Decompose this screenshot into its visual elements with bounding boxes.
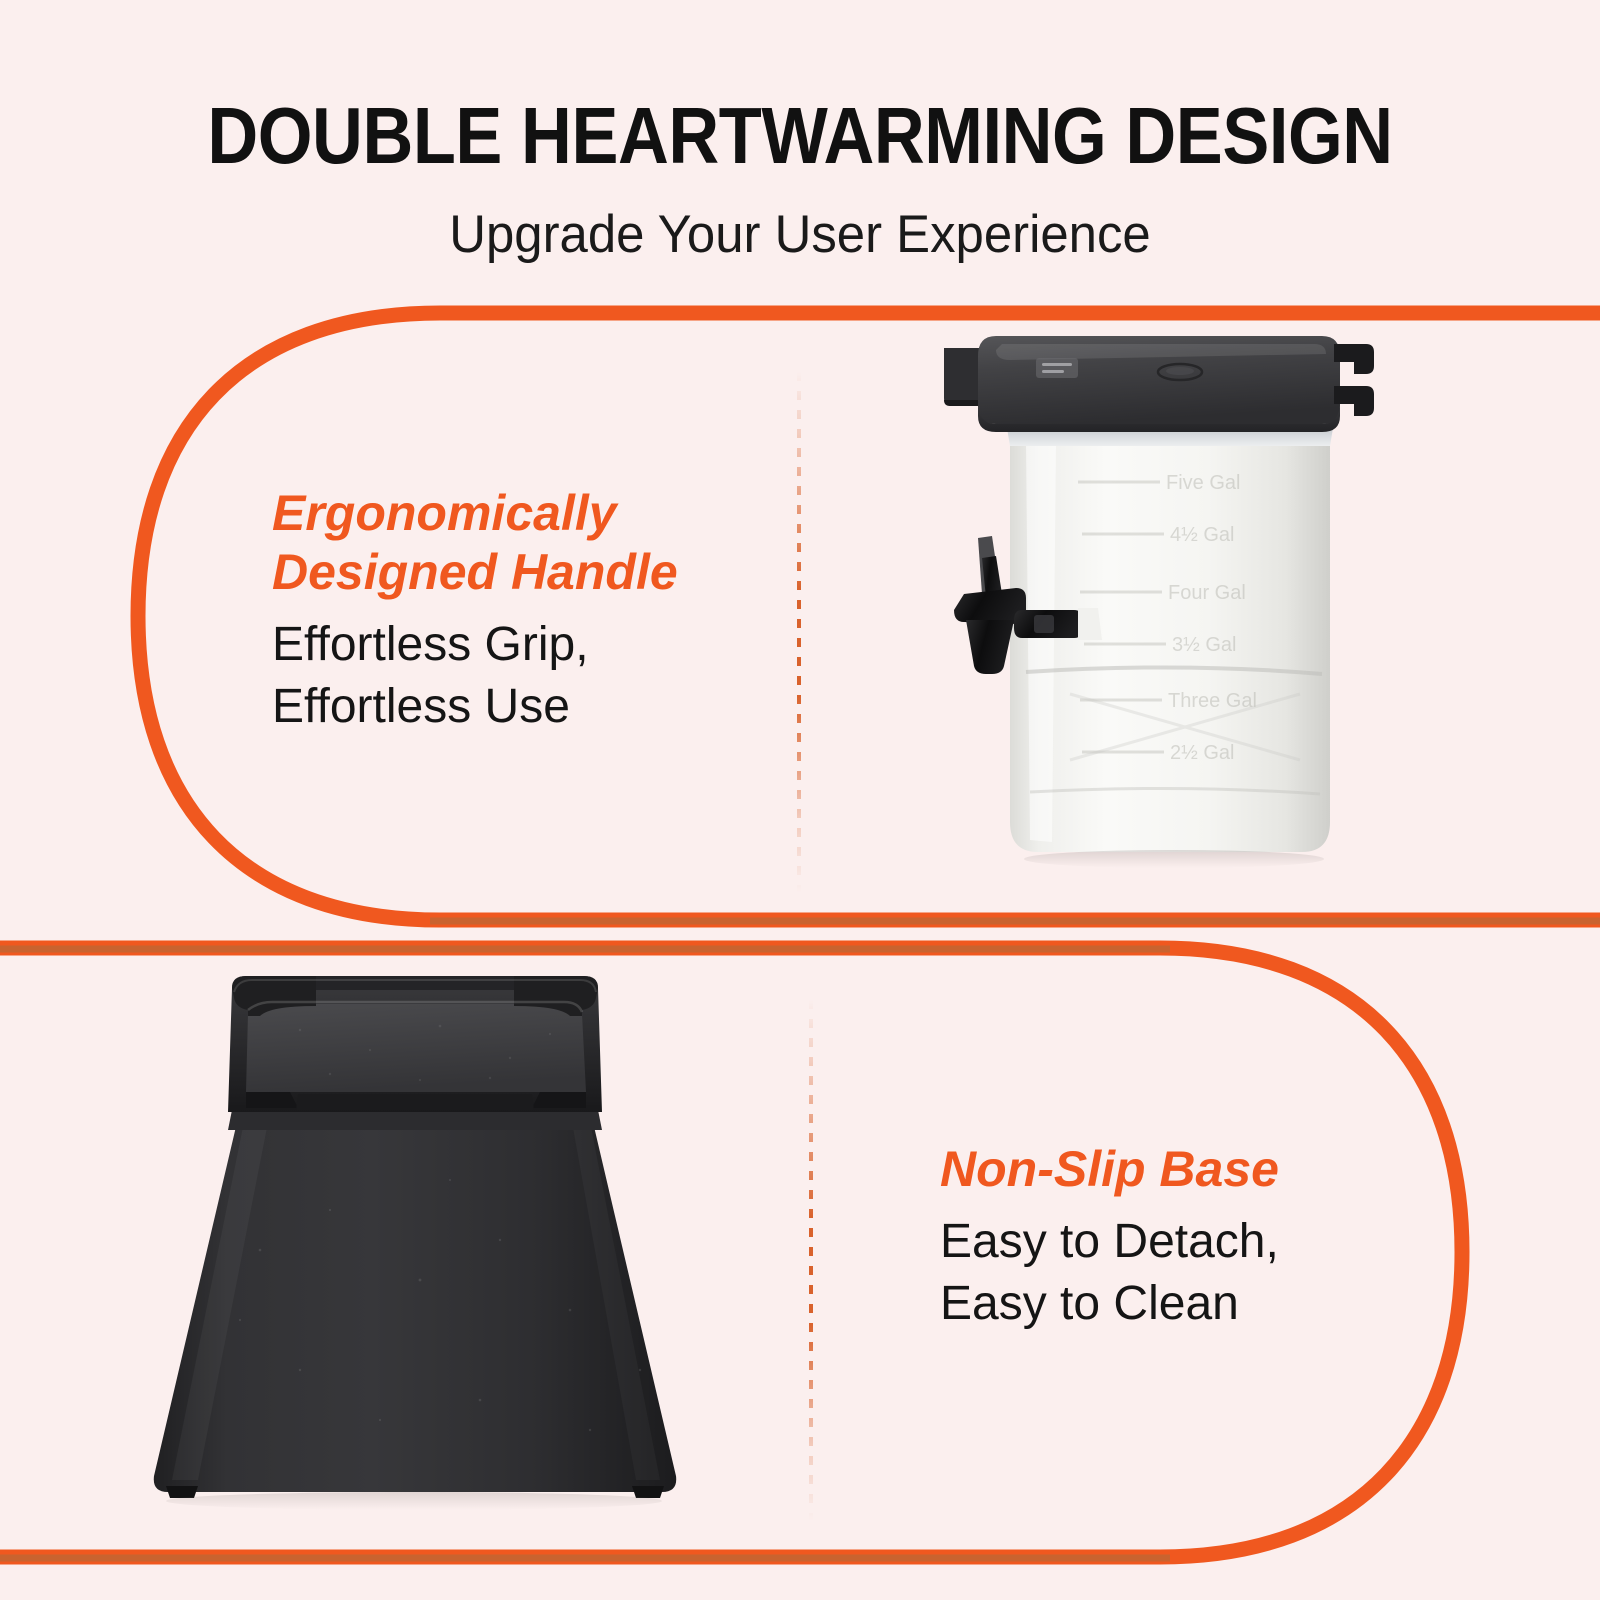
base-illustration xyxy=(120,950,710,1520)
tray-front-lip xyxy=(296,1094,534,1110)
feature-heading: Ergonomically Designed Handle xyxy=(272,484,742,602)
svg-text:3½ Gal: 3½ Gal xyxy=(1172,634,1236,656)
product-image-beverage-dispenser: Five Gal 4½ Gal Four Gal 3½ Gal Three Ga… xyxy=(930,322,1380,882)
header: DOUBLE HEARTWARMING DESIGN Upgrade Your … xyxy=(0,0,1600,261)
infographic-page: DOUBLE HEARTWARMING DESIGN Upgrade Your … xyxy=(0,0,1600,1600)
feature-block-non-slip-base: Non-Slip Base Easy to Detach, Easy to Cl… xyxy=(940,1140,1360,1336)
base-collar xyxy=(228,1110,602,1130)
feature-body: Easy to Detach, Easy to Clean xyxy=(940,1211,1360,1336)
spigot-nut xyxy=(1034,615,1054,633)
dispenser-shadow xyxy=(1024,850,1324,868)
base-foot-left xyxy=(166,1486,198,1498)
badge-line xyxy=(1042,363,1072,366)
tray-notch-left xyxy=(246,1092,298,1108)
tray-wall-back xyxy=(316,976,514,990)
base-shadow xyxy=(166,1492,662,1510)
base-foot-right xyxy=(632,1486,664,1498)
spigot-nozzle xyxy=(966,620,1014,674)
feature-block-ergonomic-handle: Ergonomically Designed Handle Effortless… xyxy=(272,484,742,739)
body-highlight xyxy=(1026,444,1056,842)
svg-text:2½ Gal: 2½ Gal xyxy=(1170,742,1234,764)
page-title: DOUBLE HEARTWARMING DESIGN xyxy=(96,96,1504,176)
vertical-dashed-divider-icon xyxy=(797,372,801,892)
product-image-dispenser-base xyxy=(120,950,710,1520)
svg-text:4½ Gal: 4½ Gal xyxy=(1170,524,1234,546)
badge-line xyxy=(1042,370,1064,373)
svg-text:Five Gal: Five Gal xyxy=(1166,472,1240,494)
tray-floor xyxy=(246,1004,586,1092)
dispenser-illustration: Five Gal 4½ Gal Four Gal 3½ Gal Three Ga… xyxy=(930,322,1380,882)
lid-brand-badge xyxy=(1036,358,1078,378)
feature-body: Effortless Grip, Effortless Use xyxy=(272,614,742,739)
spigot-inner-port xyxy=(1078,608,1102,640)
tray-notch-right xyxy=(532,1092,586,1108)
page-subtitle: Upgrade Your User Experience xyxy=(32,208,1568,261)
lid-vent-inner xyxy=(1166,367,1194,375)
vertical-dashed-divider-icon xyxy=(809,1000,813,1520)
feature-heading: Non-Slip Base xyxy=(940,1140,1360,1199)
svg-text:Four Gal: Four Gal xyxy=(1168,582,1246,604)
